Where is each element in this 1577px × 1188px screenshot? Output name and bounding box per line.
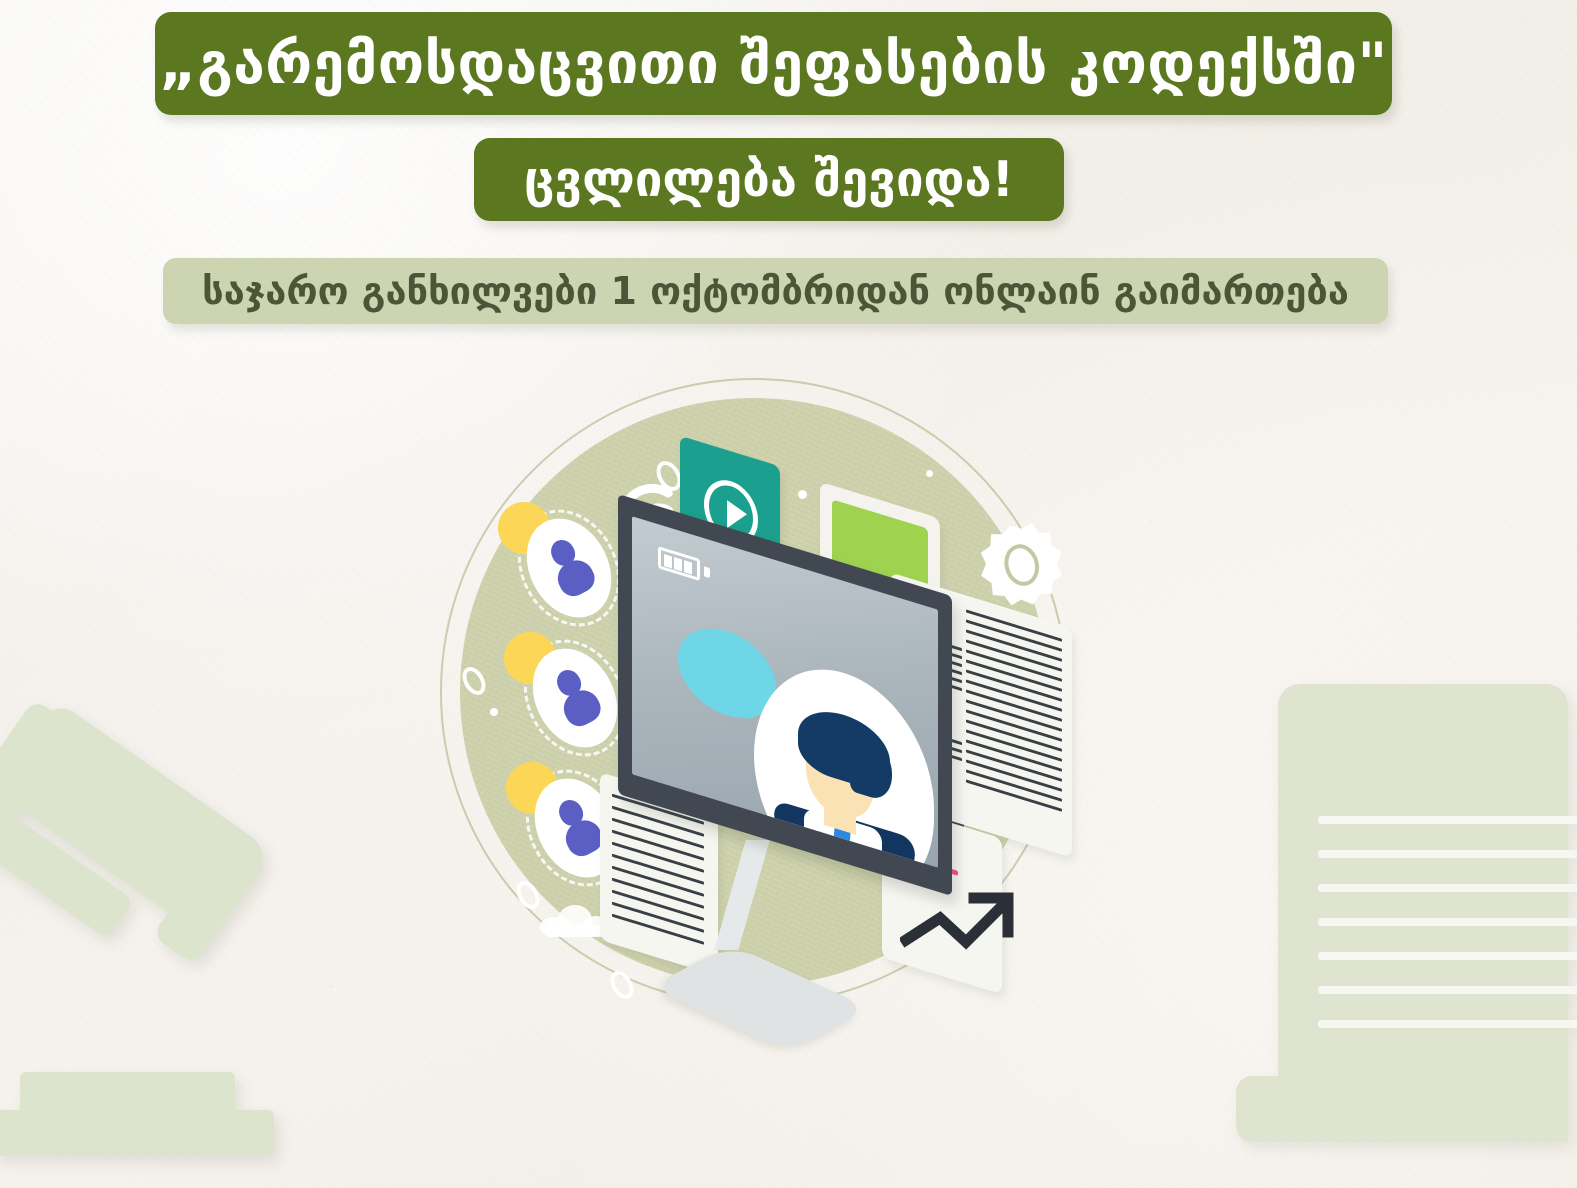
trend-arrow-icon <box>900 880 1020 976</box>
gavel-icon <box>0 700 320 1170</box>
presenter-avatar <box>754 646 934 868</box>
decor-dot <box>798 490 807 499</box>
participant-avatar-1 <box>530 516 608 620</box>
document-line <box>1318 850 1577 858</box>
document-line <box>1318 816 1577 824</box>
page-title-banner: „გარემოსდაცვითი შეფასების კოდექსში" <box>155 12 1392 115</box>
subtitle-banner: ცვლილება შევიდა! <box>474 138 1064 221</box>
document-text-lines <box>1318 816 1577 1054</box>
document-line <box>1318 1020 1577 1028</box>
battery-icon <box>658 546 700 581</box>
document-line <box>1318 986 1577 994</box>
document-line <box>1318 918 1577 926</box>
battery-terminal <box>704 566 710 578</box>
decor-dot <box>926 470 933 477</box>
gavel-sound-block-base <box>0 1110 274 1156</box>
document-scroll-icon <box>1278 684 1577 1184</box>
gear-icon <box>980 520 1064 612</box>
document-footer-fold <box>1236 1076 1568 1142</box>
document-line <box>1318 952 1577 960</box>
decor-dot <box>490 708 498 716</box>
participant-avatar-2 <box>536 646 614 750</box>
document-line <box>1318 884 1577 892</box>
note-banner: საჯარო განხილვები 1 ოქტომბრიდან ონლაინ გ… <box>163 258 1388 324</box>
